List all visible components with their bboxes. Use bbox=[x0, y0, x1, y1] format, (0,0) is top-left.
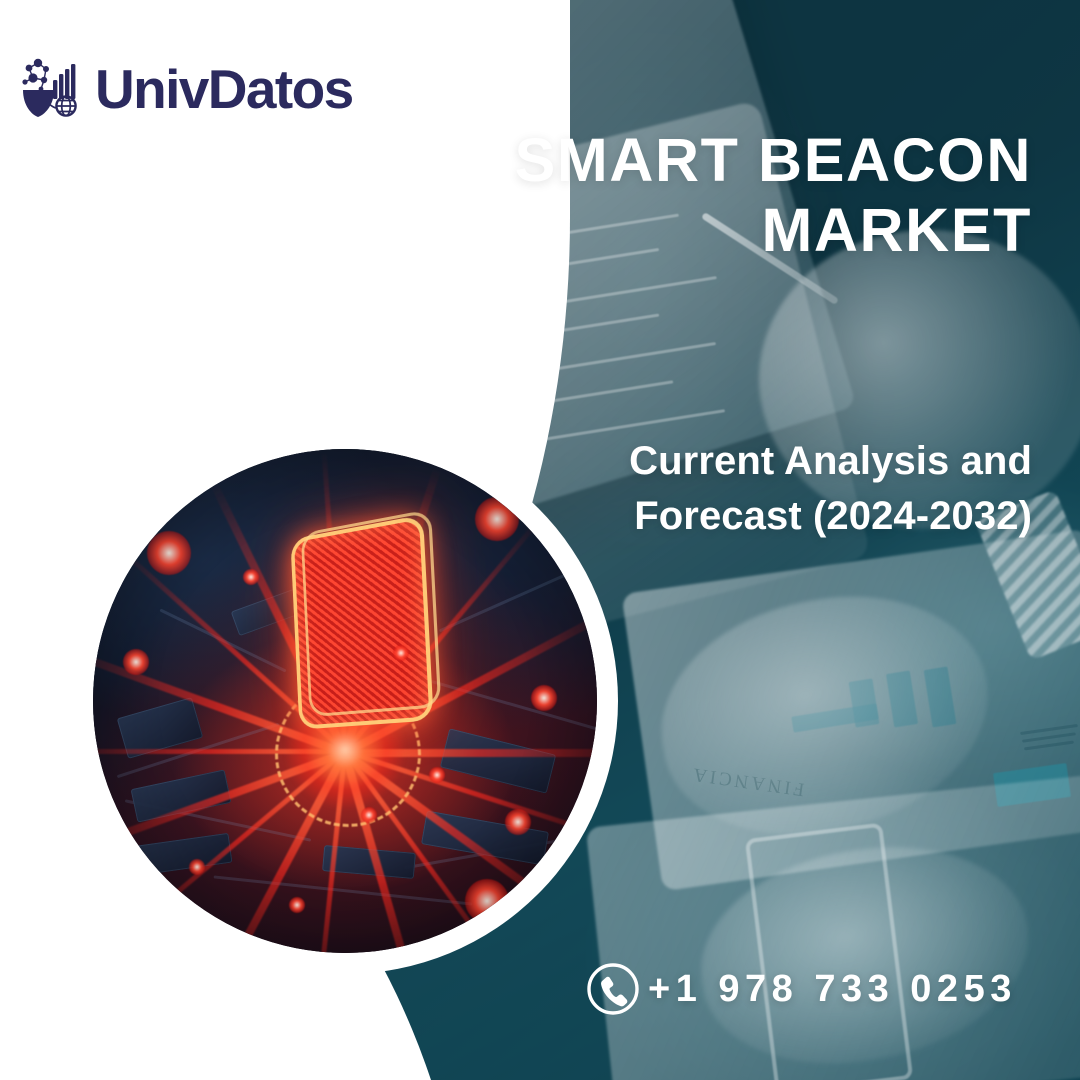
network-bars-globe-icon bbox=[20, 58, 86, 120]
hero-circuit-board bbox=[93, 449, 597, 953]
hero-image-beacon-circuit bbox=[93, 449, 597, 953]
phone-number: +1 978 733 0253 bbox=[648, 970, 1017, 1008]
page-title-line-2: MARKET bbox=[761, 196, 1032, 264]
title-block: SMART BEACONMARKET bbox=[412, 126, 1032, 265]
brand-logo[interactable]: UnivDatos bbox=[20, 58, 353, 120]
phone-icon bbox=[586, 962, 640, 1016]
brand-name: UnivDatos bbox=[95, 62, 353, 117]
subtitle-line-2: Forecast (2024-2032) bbox=[634, 494, 1032, 538]
page-title: SMART BEACONMARKET bbox=[412, 126, 1032, 265]
page-title-line-1: SMART BEACON bbox=[515, 126, 1032, 194]
subtitle-line-1: Current Analysis and bbox=[629, 439, 1032, 483]
poster-canvas: FINANCIA bbox=[0, 0, 1080, 1080]
contact-block[interactable]: +1 978 733 0253 bbox=[586, 962, 1017, 1016]
hero-vignette bbox=[93, 449, 597, 953]
